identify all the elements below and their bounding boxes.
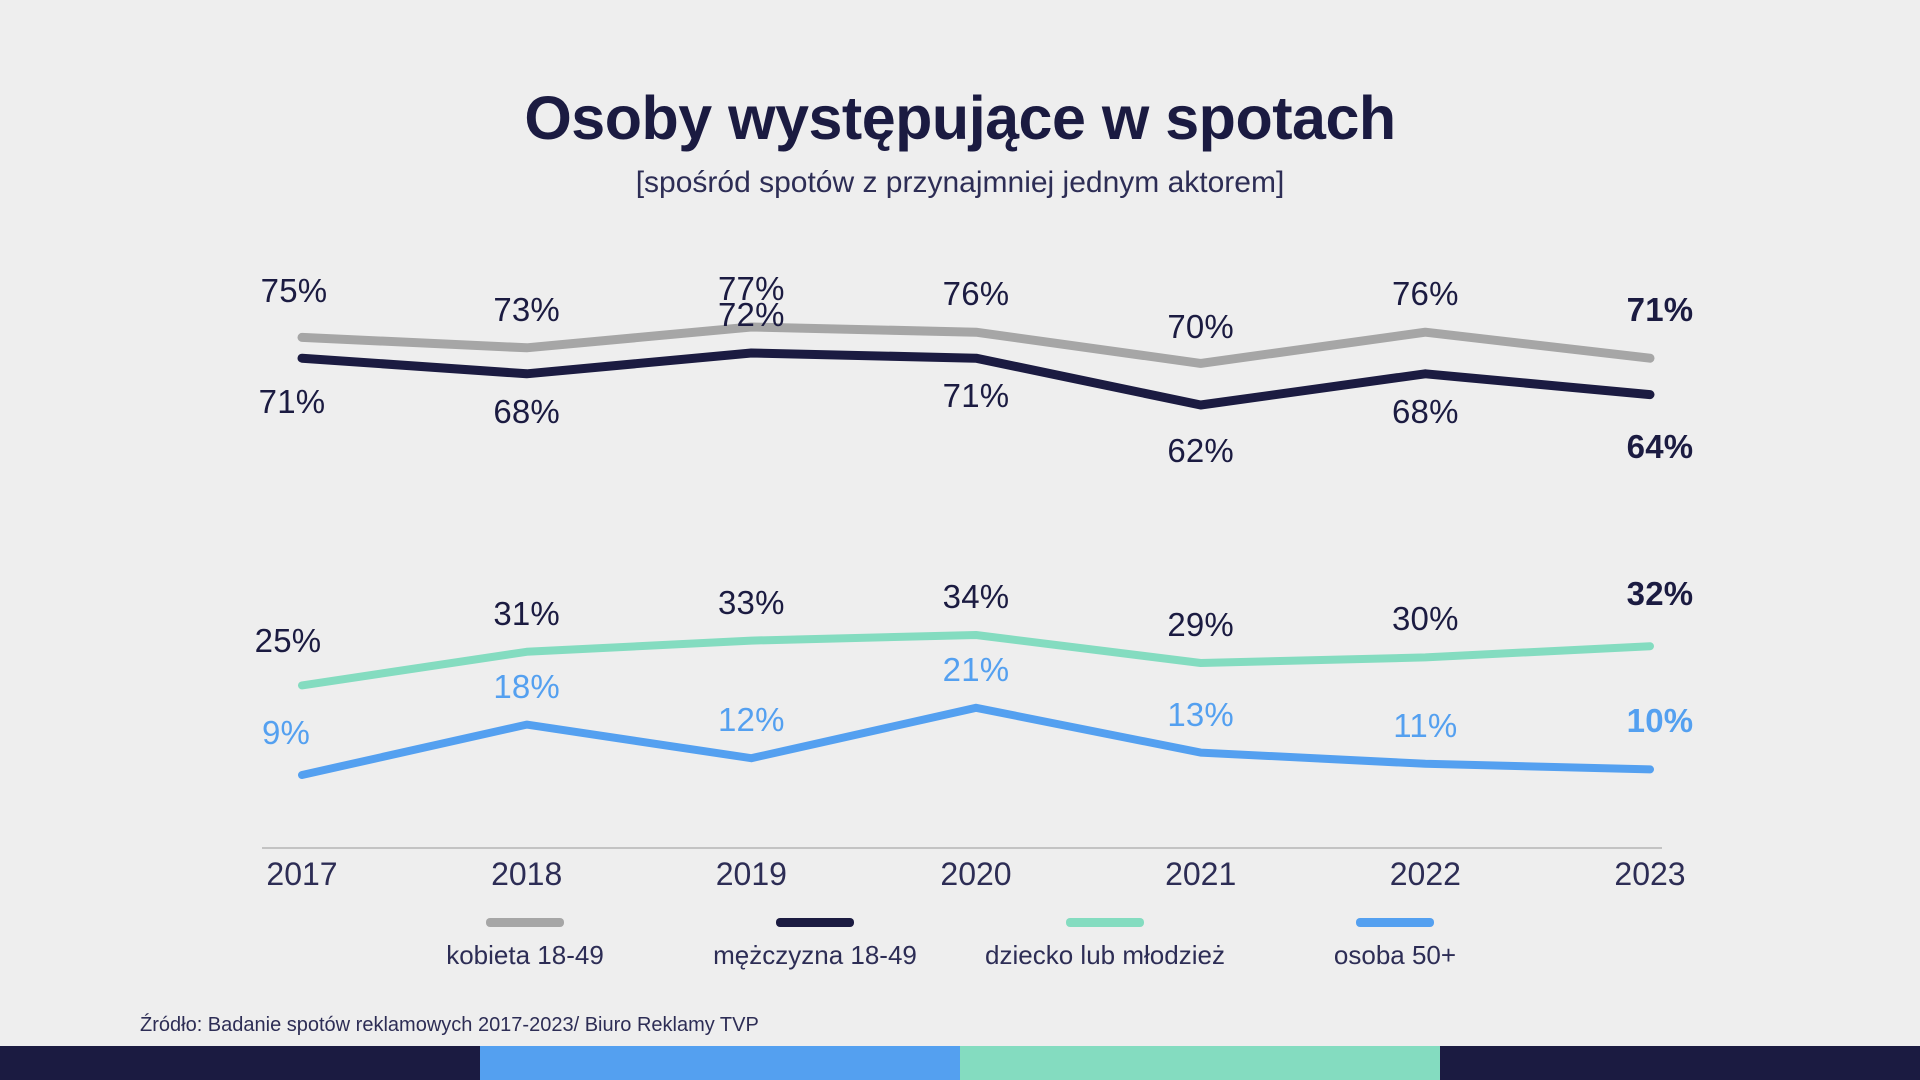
legend-swatch-icon [486,918,564,927]
legend-label: osoba 50+ [1334,940,1456,971]
data-label: 76% [943,275,1010,313]
data-label: 64% [1627,428,1694,466]
data-label: 12% [718,701,785,739]
data-label: 29% [1167,606,1234,644]
data-label: 73% [493,291,560,329]
data-label: 32% [1627,575,1694,613]
data-label: 30% [1392,600,1459,638]
data-label: 10% [1627,702,1694,740]
legend-item-0[interactable]: kobieta 18-49 [380,918,670,971]
chart-page: Osoby występujące w spotach [spośród spo… [0,0,1920,1080]
data-label: 25% [255,622,322,660]
chart-legend: kobieta 18-49mężczyzna 18-49dziecko lub … [0,918,1920,971]
data-label: 71% [943,377,1010,415]
data-label: 68% [1392,393,1459,431]
data-label: 72% [718,296,785,334]
data-label: 76% [1392,275,1459,313]
bottom-bar-segment-1 [480,1046,960,1080]
data-label: 68% [493,393,560,431]
legend-item-3[interactable]: osoba 50+ [1250,918,1540,971]
data-label: 62% [1167,432,1234,470]
legend-label: dziecko lub młodzież [985,940,1225,971]
data-label: 33% [718,584,785,622]
source-note: Źródło: Badanie spotów reklamowych 2017-… [140,1014,759,1037]
legend-swatch-icon [1066,918,1144,927]
data-label: 71% [1627,291,1694,329]
x-tick-label: 2023 [1614,856,1685,893]
legend-swatch-icon [1356,918,1434,927]
x-tick-label: 2022 [1390,856,1461,893]
bottom-bar-segment-3 [1440,1046,1920,1080]
data-label: 34% [943,578,1010,616]
bottom-bar-segment-0 [0,1046,480,1080]
legend-label: kobieta 18-49 [446,940,604,971]
x-tick-label: 2018 [491,856,562,893]
data-label: 71% [259,383,326,421]
data-label: 13% [1167,696,1234,734]
data-label: 31% [493,595,560,633]
data-label: 18% [493,668,560,706]
legend-swatch-icon [776,918,854,927]
bottom-color-bar [0,1046,1920,1080]
data-label: 70% [1167,308,1234,346]
data-label: 75% [261,272,328,310]
bottom-bar-segment-2 [960,1046,1440,1080]
x-axis-line [262,847,1662,849]
legend-item-2[interactable]: dziecko lub młodzież [960,918,1250,971]
data-label: 11% [1393,707,1457,745]
data-label: 9% [262,714,310,752]
x-tick-label: 2019 [716,856,787,893]
x-tick-label: 2020 [940,856,1011,893]
data-label: 21% [943,651,1010,689]
legend-label: mężczyzna 18-49 [713,940,917,971]
x-tick-label: 2017 [266,856,337,893]
x-tick-label: 2021 [1165,856,1236,893]
legend-item-1[interactable]: mężczyzna 18-49 [670,918,960,971]
